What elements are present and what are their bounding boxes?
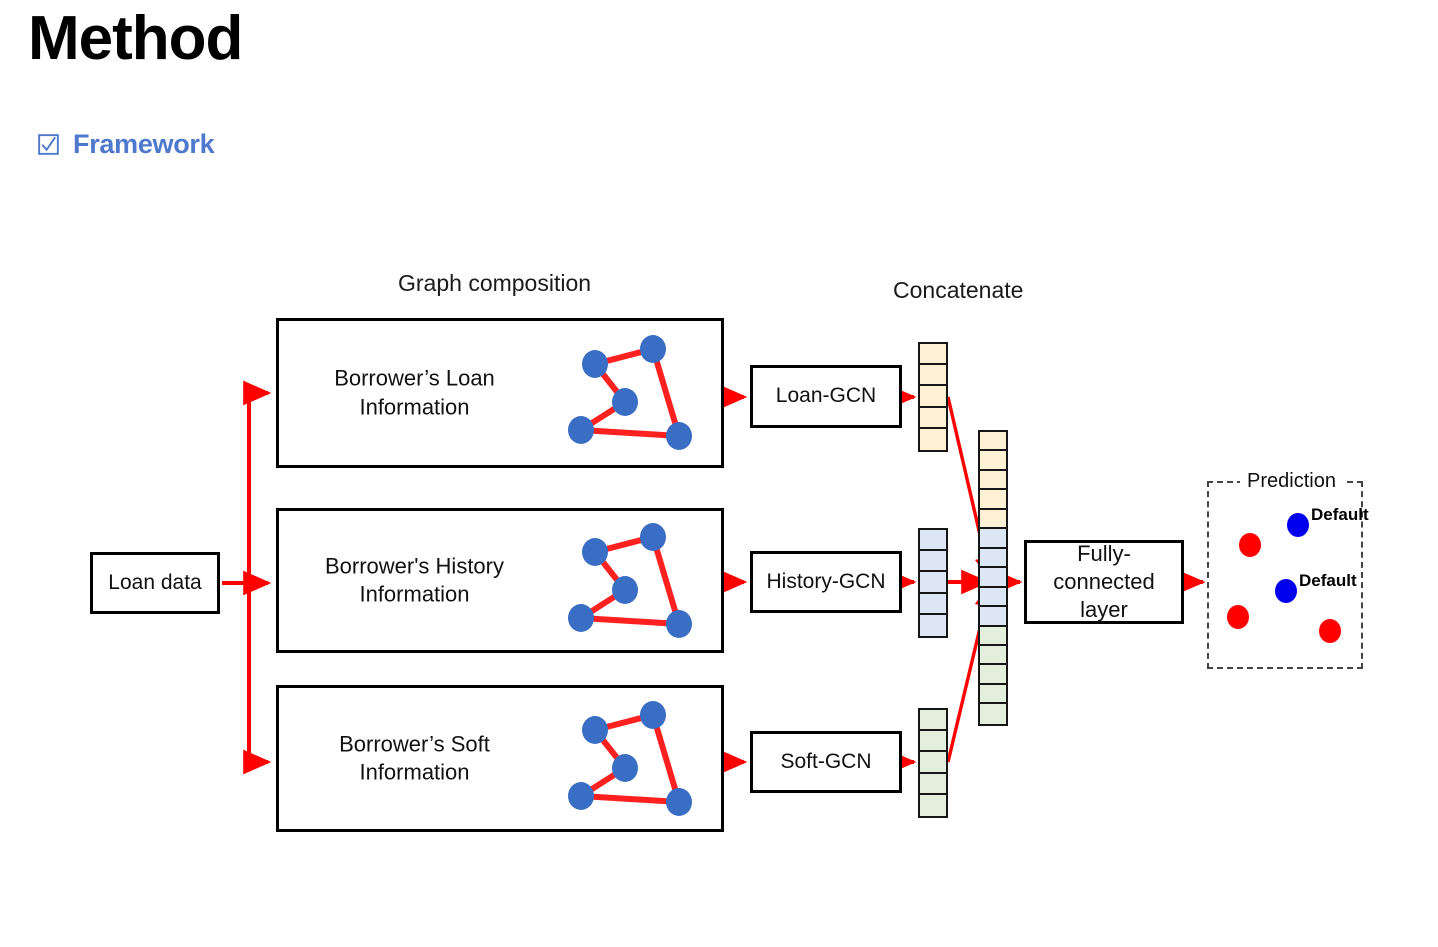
feature-cell [920, 429, 946, 450]
feature-cell [920, 795, 946, 816]
node-borrower-history-information-label: Borrower's History Information [307, 552, 522, 609]
bullet-framework: Framework [38, 129, 214, 160]
feature-cell [920, 408, 946, 429]
feature-cell [980, 627, 1006, 646]
prediction-dot-default [1275, 579, 1297, 603]
node-borrower-soft-information[interactable]: Borrower’s Soft Information [276, 685, 724, 832]
feature-vector-loan [918, 342, 948, 452]
node-borrower-loan-information[interactable]: Borrower’s Loan Information [276, 318, 724, 468]
prediction-dot-nondefault [1239, 533, 1261, 557]
feature-cell [920, 710, 946, 731]
feature-cell [980, 432, 1006, 451]
node-loan-data[interactable]: Loan data [90, 552, 220, 614]
feature-cell [920, 774, 946, 795]
node-history-gcn[interactable]: History-GCN [750, 551, 902, 613]
node-loan-data-label: Loan data [108, 570, 201, 597]
node-soft-gcn[interactable]: Soft-GCN [750, 731, 902, 793]
graph-thumbnail-soft [561, 698, 701, 820]
feature-vector-soft [918, 708, 948, 818]
graph-thumbnail-history [561, 520, 701, 642]
feature-cell [920, 365, 946, 386]
feature-cell [980, 529, 1006, 548]
page-title: Method [28, 6, 242, 71]
feature-cell [920, 551, 946, 572]
prediction-panel: DefaultDefault [1207, 481, 1363, 669]
node-loan-gcn-label: Loan-GCN [776, 383, 876, 410]
prediction-label-default: Default [1299, 571, 1357, 591]
graph-thumbnail-loan [561, 332, 701, 454]
prediction-label-default: Default [1311, 505, 1369, 525]
feature-cell [980, 471, 1006, 490]
feature-cell [920, 594, 946, 615]
node-soft-gcn-label: Soft-GCN [780, 749, 871, 776]
feature-vector-concatenated [978, 430, 1008, 726]
feature-cell [920, 572, 946, 593]
feature-cell [980, 568, 1006, 587]
checkbox-checked-icon [38, 134, 59, 155]
node-history-gcn-label: History-GCN [767, 569, 886, 596]
node-borrower-soft-information-label: Borrower’s Soft Information [307, 730, 522, 787]
prediction-title: Prediction [1240, 470, 1343, 493]
prediction-dot-nondefault [1319, 619, 1341, 643]
node-fully-connected-layer[interactable]: Fully-connected layer [1024, 540, 1184, 624]
feature-vector-history [918, 528, 948, 638]
caption-concatenate: Concatenate [893, 277, 1023, 304]
feature-cell [920, 386, 946, 407]
feature-cell [980, 451, 1006, 470]
feature-cell [920, 530, 946, 551]
feature-cell [980, 549, 1006, 568]
feature-cell [980, 607, 1006, 626]
feature-cell [980, 704, 1006, 723]
feature-cell [920, 615, 946, 636]
prediction-dot-default [1287, 513, 1309, 537]
feature-cell [980, 490, 1006, 509]
feature-cell [980, 510, 1006, 529]
node-loan-gcn[interactable]: Loan-GCN [750, 365, 902, 428]
node-borrower-loan-information-label: Borrower’s Loan Information [307, 364, 522, 421]
prediction-dot-nondefault [1227, 605, 1249, 629]
bullet-label: Framework [73, 129, 214, 160]
feature-cell [980, 685, 1006, 704]
feature-cell [980, 665, 1006, 684]
feature-cell [920, 731, 946, 752]
caption-graph-composition: Graph composition [398, 270, 591, 297]
feature-cell [980, 646, 1006, 665]
slide-canvas: Method Framework Graph composition Conca… [0, 0, 1438, 947]
node-fully-connected-layer-label: Fully-connected layer [1027, 540, 1181, 624]
feature-cell [920, 752, 946, 773]
feature-cell [980, 588, 1006, 607]
node-borrower-history-information[interactable]: Borrower's History Information [276, 508, 724, 653]
feature-cell [920, 344, 946, 365]
